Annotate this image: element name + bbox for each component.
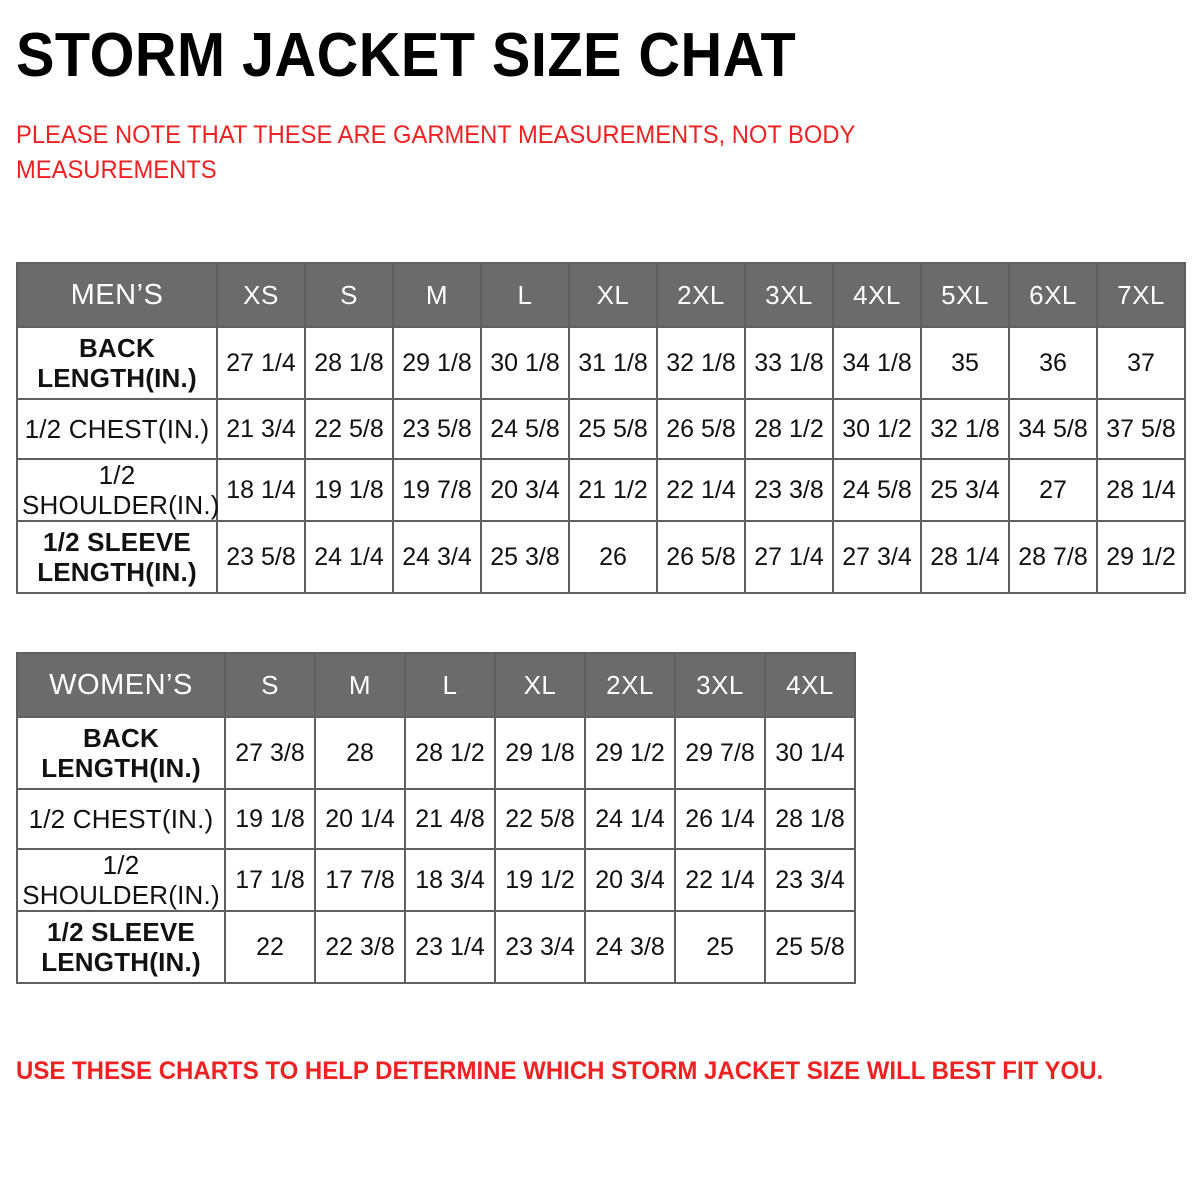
mens-col-header-3xl: 3XL xyxy=(745,263,833,327)
table-cell: 28 7/8 xyxy=(1009,521,1097,593)
table-cell: 32 1/8 xyxy=(657,327,745,399)
table-cell: 20 3/4 xyxy=(481,459,569,521)
womens-col-header-l: L xyxy=(405,653,495,717)
mens-header-row: MEN’S XS S M L XL 2XL 3XL 4XL 5XL 6XL 7X… xyxy=(17,263,1185,327)
table-row: 1/2 SHOULDER(IN.) 18 1/4 19 1/8 19 7/8 2… xyxy=(17,459,1185,521)
table-cell: 27 3/8 xyxy=(225,717,315,789)
table-cell: 25 xyxy=(675,911,765,983)
table-cell: 19 1/8 xyxy=(225,789,315,849)
table-cell: 28 1/2 xyxy=(405,717,495,789)
table-cell: 25 5/8 xyxy=(569,399,657,459)
mens-col-header-2xl: 2XL xyxy=(657,263,745,327)
womens-col-header-3xl: 3XL xyxy=(675,653,765,717)
table-cell: 18 3/4 xyxy=(405,849,495,911)
womens-row-label-half-shoulder: 1/2 SHOULDER(IN.) xyxy=(17,849,225,911)
table-cell: 20 1/4 xyxy=(315,789,405,849)
table-cell: 32 1/8 xyxy=(921,399,1009,459)
table-cell: 34 1/8 xyxy=(833,327,921,399)
table-cell: 20 3/4 xyxy=(585,849,675,911)
table-cell: 23 3/4 xyxy=(765,849,855,911)
table-cell: 28 1/4 xyxy=(1097,459,1185,521)
table-cell: 37 5/8 xyxy=(1097,399,1185,459)
table-row: 1/2 CHEST(IN.) 19 1/8 20 1/4 21 4/8 22 5… xyxy=(17,789,855,849)
table-cell: 22 5/8 xyxy=(495,789,585,849)
womens-row-label-back-length: BACK LENGTH(IN.) xyxy=(17,717,225,789)
table-row: 1/2 SHOULDER(IN.) 17 1/8 17 7/8 18 3/4 1… xyxy=(17,849,855,911)
mens-col-header-4xl: 4XL xyxy=(833,263,921,327)
mens-row-label-half-shoulder: 1/2 SHOULDER(IN.) xyxy=(17,459,217,521)
womens-row-label-half-sleeve-length: 1/2 SLEEVE LENGTH(IN.) xyxy=(17,911,225,983)
table-cell: 27 1/4 xyxy=(217,327,305,399)
table-cell: 25 5/8 xyxy=(765,911,855,983)
mens-col-header-l: L xyxy=(481,263,569,327)
table-cell: 36 xyxy=(1009,327,1097,399)
table-cell: 33 1/8 xyxy=(745,327,833,399)
table-cell: 29 1/8 xyxy=(393,327,481,399)
table-cell: 23 5/8 xyxy=(393,399,481,459)
table-cell: 37 xyxy=(1097,327,1185,399)
table-cell: 29 7/8 xyxy=(675,717,765,789)
mens-corner-header: MEN’S xyxy=(17,263,217,327)
mens-col-header-7xl: 7XL xyxy=(1097,263,1185,327)
mens-col-header-m: M xyxy=(393,263,481,327)
womens-size-table: WOMEN’S S M L XL 2XL 3XL 4XL BACK LENGTH… xyxy=(16,652,856,984)
table-cell: 27 1/4 xyxy=(745,521,833,593)
table-cell: 29 1/2 xyxy=(585,717,675,789)
table-cell: 29 1/8 xyxy=(495,717,585,789)
table-cell: 28 1/4 xyxy=(921,521,1009,593)
table-row: 1/2 CHEST(IN.) 21 3/4 22 5/8 23 5/8 24 5… xyxy=(17,399,1185,459)
womens-row-label-half-chest: 1/2 CHEST(IN.) xyxy=(17,789,225,849)
mens-col-header-6xl: 6XL xyxy=(1009,263,1097,327)
table-cell: 19 1/8 xyxy=(305,459,393,521)
mens-row-label-back-length: BACK LENGTH(IN.) xyxy=(17,327,217,399)
help-determine-size-note: USE THESE CHARTS TO HELP DETERMINE WHICH… xyxy=(16,1055,1130,1087)
table-cell: 34 5/8 xyxy=(1009,399,1097,459)
table-cell: 24 3/4 xyxy=(393,521,481,593)
table-cell: 26 5/8 xyxy=(657,521,745,593)
table-row: BACK LENGTH(IN.) 27 3/8 28 28 1/2 29 1/8… xyxy=(17,717,855,789)
table-cell: 28 xyxy=(315,717,405,789)
womens-col-header-4xl: 4XL xyxy=(765,653,855,717)
table-cell: 29 1/2 xyxy=(1097,521,1185,593)
mens-row-label-half-sleeve-length: 1/2 SLEEVE LENGTH(IN.) xyxy=(17,521,217,593)
table-cell: 19 1/2 xyxy=(495,849,585,911)
table-cell: 30 1/4 xyxy=(765,717,855,789)
table-cell: 22 5/8 xyxy=(305,399,393,459)
table-cell: 25 3/8 xyxy=(481,521,569,593)
table-cell: 26 xyxy=(569,521,657,593)
womens-header-row: WOMEN’S S M L XL 2XL 3XL 4XL xyxy=(17,653,855,717)
womens-corner-header: WOMEN’S xyxy=(17,653,225,717)
table-cell: 23 1/4 xyxy=(405,911,495,983)
mens-row-label-half-chest: 1/2 CHEST(IN.) xyxy=(17,399,217,459)
mens-col-header-xs: XS xyxy=(217,263,305,327)
mens-col-header-xl: XL xyxy=(569,263,657,327)
page-title: STORM JACKET SIZE CHAT xyxy=(16,24,796,88)
table-cell: 27 3/4 xyxy=(833,521,921,593)
womens-table-head: WOMEN’S S M L XL 2XL 3XL 4XL xyxy=(17,653,855,717)
table-cell: 35 xyxy=(921,327,1009,399)
table-cell: 22 xyxy=(225,911,315,983)
table-cell: 21 4/8 xyxy=(405,789,495,849)
table-cell: 24 5/8 xyxy=(833,459,921,521)
table-cell: 28 1/8 xyxy=(765,789,855,849)
mens-table-head: MEN’S XS S M L XL 2XL 3XL 4XL 5XL 6XL 7X… xyxy=(17,263,1185,327)
table-row: 1/2 SLEEVE LENGTH(IN.) 23 5/8 24 1/4 24 … xyxy=(17,521,1185,593)
table-cell: 24 3/8 xyxy=(585,911,675,983)
table-cell: 22 3/8 xyxy=(315,911,405,983)
table-cell: 23 3/8 xyxy=(745,459,833,521)
table-cell: 21 3/4 xyxy=(217,399,305,459)
table-cell: 23 5/8 xyxy=(217,521,305,593)
womens-col-header-s: S xyxy=(225,653,315,717)
table-cell: 28 1/8 xyxy=(305,327,393,399)
table-cell: 19 7/8 xyxy=(393,459,481,521)
table-cell: 27 xyxy=(1009,459,1097,521)
table-cell: 23 3/4 xyxy=(495,911,585,983)
mens-col-header-5xl: 5XL xyxy=(921,263,1009,327)
table-cell: 22 1/4 xyxy=(657,459,745,521)
womens-col-header-m: M xyxy=(315,653,405,717)
table-cell: 24 1/4 xyxy=(305,521,393,593)
table-cell: 26 1/4 xyxy=(675,789,765,849)
womens-table-body: BACK LENGTH(IN.) 27 3/8 28 28 1/2 29 1/8… xyxy=(17,717,855,983)
table-cell: 17 1/8 xyxy=(225,849,315,911)
table-cell: 28 1/2 xyxy=(745,399,833,459)
size-chart-page: STORM JACKET SIZE CHAT PLEASE NOTE THAT … xyxy=(0,0,1200,1200)
womens-col-header-2xl: 2XL xyxy=(585,653,675,717)
table-cell: 24 1/4 xyxy=(585,789,675,849)
table-cell: 30 1/2 xyxy=(833,399,921,459)
table-row: BACK LENGTH(IN.) 27 1/4 28 1/8 29 1/8 30… xyxy=(17,327,1185,399)
garment-measurement-note: PLEASE NOTE THAT THESE ARE GARMENT MEASU… xyxy=(16,118,928,188)
table-cell: 31 1/8 xyxy=(569,327,657,399)
table-row: 1/2 SLEEVE LENGTH(IN.) 22 22 3/8 23 1/4 … xyxy=(17,911,855,983)
table-cell: 21 1/2 xyxy=(569,459,657,521)
table-cell: 26 5/8 xyxy=(657,399,745,459)
table-cell: 18 1/4 xyxy=(217,459,305,521)
table-cell: 24 5/8 xyxy=(481,399,569,459)
mens-col-header-s: S xyxy=(305,263,393,327)
mens-table-body: BACK LENGTH(IN.) 27 1/4 28 1/8 29 1/8 30… xyxy=(17,327,1185,593)
table-cell: 22 1/4 xyxy=(675,849,765,911)
table-cell: 25 3/4 xyxy=(921,459,1009,521)
table-cell: 30 1/8 xyxy=(481,327,569,399)
table-cell: 17 7/8 xyxy=(315,849,405,911)
womens-col-header-xl: XL xyxy=(495,653,585,717)
mens-size-table: MEN’S XS S M L XL 2XL 3XL 4XL 5XL 6XL 7X… xyxy=(16,262,1186,594)
